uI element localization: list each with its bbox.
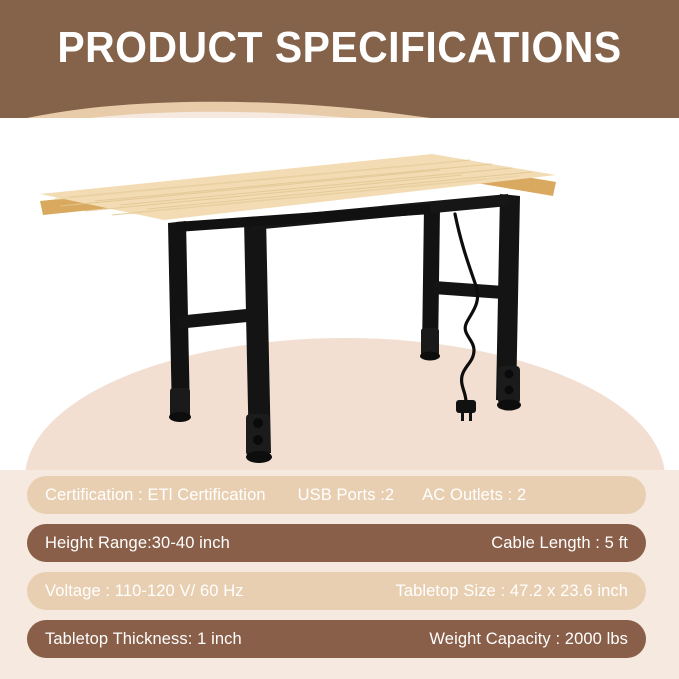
spec-certification: Certification : ETl Certification bbox=[45, 486, 266, 505]
spec-voltage: Voltage : 110-120 V/ 60 Hz bbox=[45, 582, 244, 601]
header-banner: PRODUCT SPECIFICATIONS bbox=[0, 0, 679, 135]
leg-front-right bbox=[496, 194, 521, 411]
brace-left-side bbox=[176, 308, 257, 329]
brace-right-side bbox=[433, 281, 504, 299]
specifications-list: Certification : ETl Certification USB Po… bbox=[27, 476, 646, 668]
tabletop bbox=[40, 154, 556, 220]
spec-tabletop-thickness: Tabletop Thickness: 1 inch bbox=[45, 630, 242, 649]
spec-usb-ports: USB Ports :2 bbox=[298, 486, 395, 505]
product-specifications-infographic: PRODUCT SPECIFICATIONS bbox=[0, 0, 679, 679]
spec-row-certification: Certification : ETl Certification USB Po… bbox=[27, 476, 646, 514]
spec-weight-capacity: Weight Capacity : 2000 lbs bbox=[429, 630, 628, 649]
spec-ac-outlets: AC Outlets : 2 bbox=[422, 486, 526, 505]
page-title: PRODUCT SPECIFICATIONS bbox=[24, 24, 655, 72]
spec-tabletop-size: Tabletop Size : 47.2 x 23.6 inch bbox=[395, 582, 628, 601]
spec-row-voltage-size: Voltage : 110-120 V/ 60 Hz Tabletop Size… bbox=[27, 572, 646, 610]
spec-cable-length: Cable Length : 5 ft bbox=[491, 534, 628, 553]
workbench-product-illustration bbox=[0, 118, 679, 470]
spec-row-thickness-weight: Tabletop Thickness: 1 inch Weight Capaci… bbox=[27, 620, 646, 658]
tabletop-surface bbox=[40, 154, 556, 220]
leg-front-left bbox=[244, 217, 272, 463]
spec-row-height-cable: Height Range:30-40 inch Cable Length : 5… bbox=[27, 524, 646, 562]
floor-ellipse bbox=[25, 338, 665, 470]
spec-height-range: Height Range:30-40 inch bbox=[45, 534, 230, 553]
product-image-stage bbox=[0, 118, 679, 470]
